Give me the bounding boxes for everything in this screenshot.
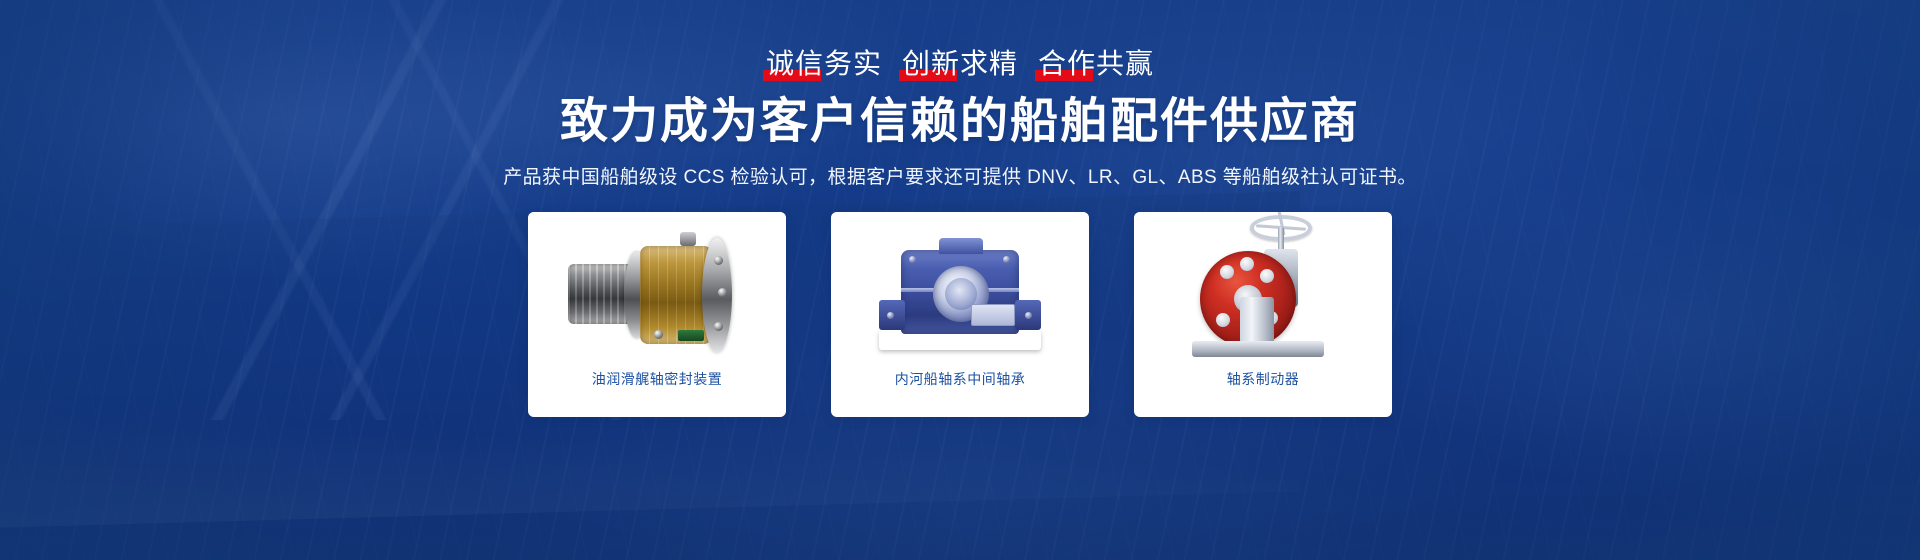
seal-bolt <box>654 330 663 339</box>
banner-subtitle: 产品获中国船舶级设 CCS 检验认可，根据客户要求还可提供 DNV、LR、GL、… <box>503 164 1417 192</box>
product-card-caption: 轴系制动器 <box>1134 370 1392 388</box>
brake-disc-hole <box>1220 265 1234 279</box>
tagline: 诚信务实 创新求精 合作共赢 <box>765 46 1155 82</box>
bearing-top-cap <box>939 238 983 254</box>
seal-bolt <box>714 322 723 331</box>
seal-bolt <box>714 256 723 265</box>
intermediate-shaft-bearing-photo <box>831 212 1089 370</box>
product-card-list: 油润滑艉轴密封装置 <box>528 212 1392 417</box>
brake-disc-hole <box>1240 257 1254 271</box>
brake-disc-hole <box>1260 269 1274 283</box>
product-card-caption: 油润滑艉轴密封装置 <box>528 370 786 388</box>
seal-lug <box>680 232 696 246</box>
bearing-bolt <box>1003 256 1010 263</box>
tagline-segment-1: 诚信务实 <box>765 46 883 82</box>
tagline-segment-2: 创新求精 <box>901 46 1019 82</box>
stern-tube-seal-photo <box>528 212 786 370</box>
intermediate-shaft-bearing-illustration <box>875 226 1045 356</box>
bearing-bolt <box>1025 312 1032 319</box>
banner-content: 诚信务实 创新求精 合作共赢 致力成为客户信赖的船舶配件供应商 产品获中国船舶级… <box>0 0 1920 560</box>
product-card-caption: 内河船轴系中间轴承 <box>831 370 1089 388</box>
stern-tube-seal-illustration <box>562 226 752 356</box>
seal-green-marker <box>678 330 704 341</box>
shaft-brake-illustration <box>1178 221 1348 361</box>
seal-bolt <box>718 288 727 297</box>
bearing-bolt <box>909 256 916 263</box>
page-title: 致力成为客户信赖的船舶配件供应商 <box>560 92 1360 152</box>
brake-base-plate <box>1192 341 1324 357</box>
brake-column <box>1240 297 1274 343</box>
tagline-segment-3: 合作共赢 <box>1037 46 1155 82</box>
hero-banner: 诚信务实 创新求精 合作共赢 致力成为客户信赖的船舶配件供应商 产品获中国船舶级… <box>0 0 1920 560</box>
bearing-name-plate <box>971 304 1015 326</box>
shaft-brake-photo <box>1134 212 1392 370</box>
product-card[interactable]: 内河船轴系中间轴承 <box>831 212 1089 417</box>
brake-disc-hole <box>1216 313 1230 327</box>
product-card[interactable]: 油润滑艉轴密封装置 <box>528 212 786 417</box>
product-card[interactable]: 轴系制动器 <box>1134 212 1392 417</box>
bearing-bolt <box>887 312 894 319</box>
